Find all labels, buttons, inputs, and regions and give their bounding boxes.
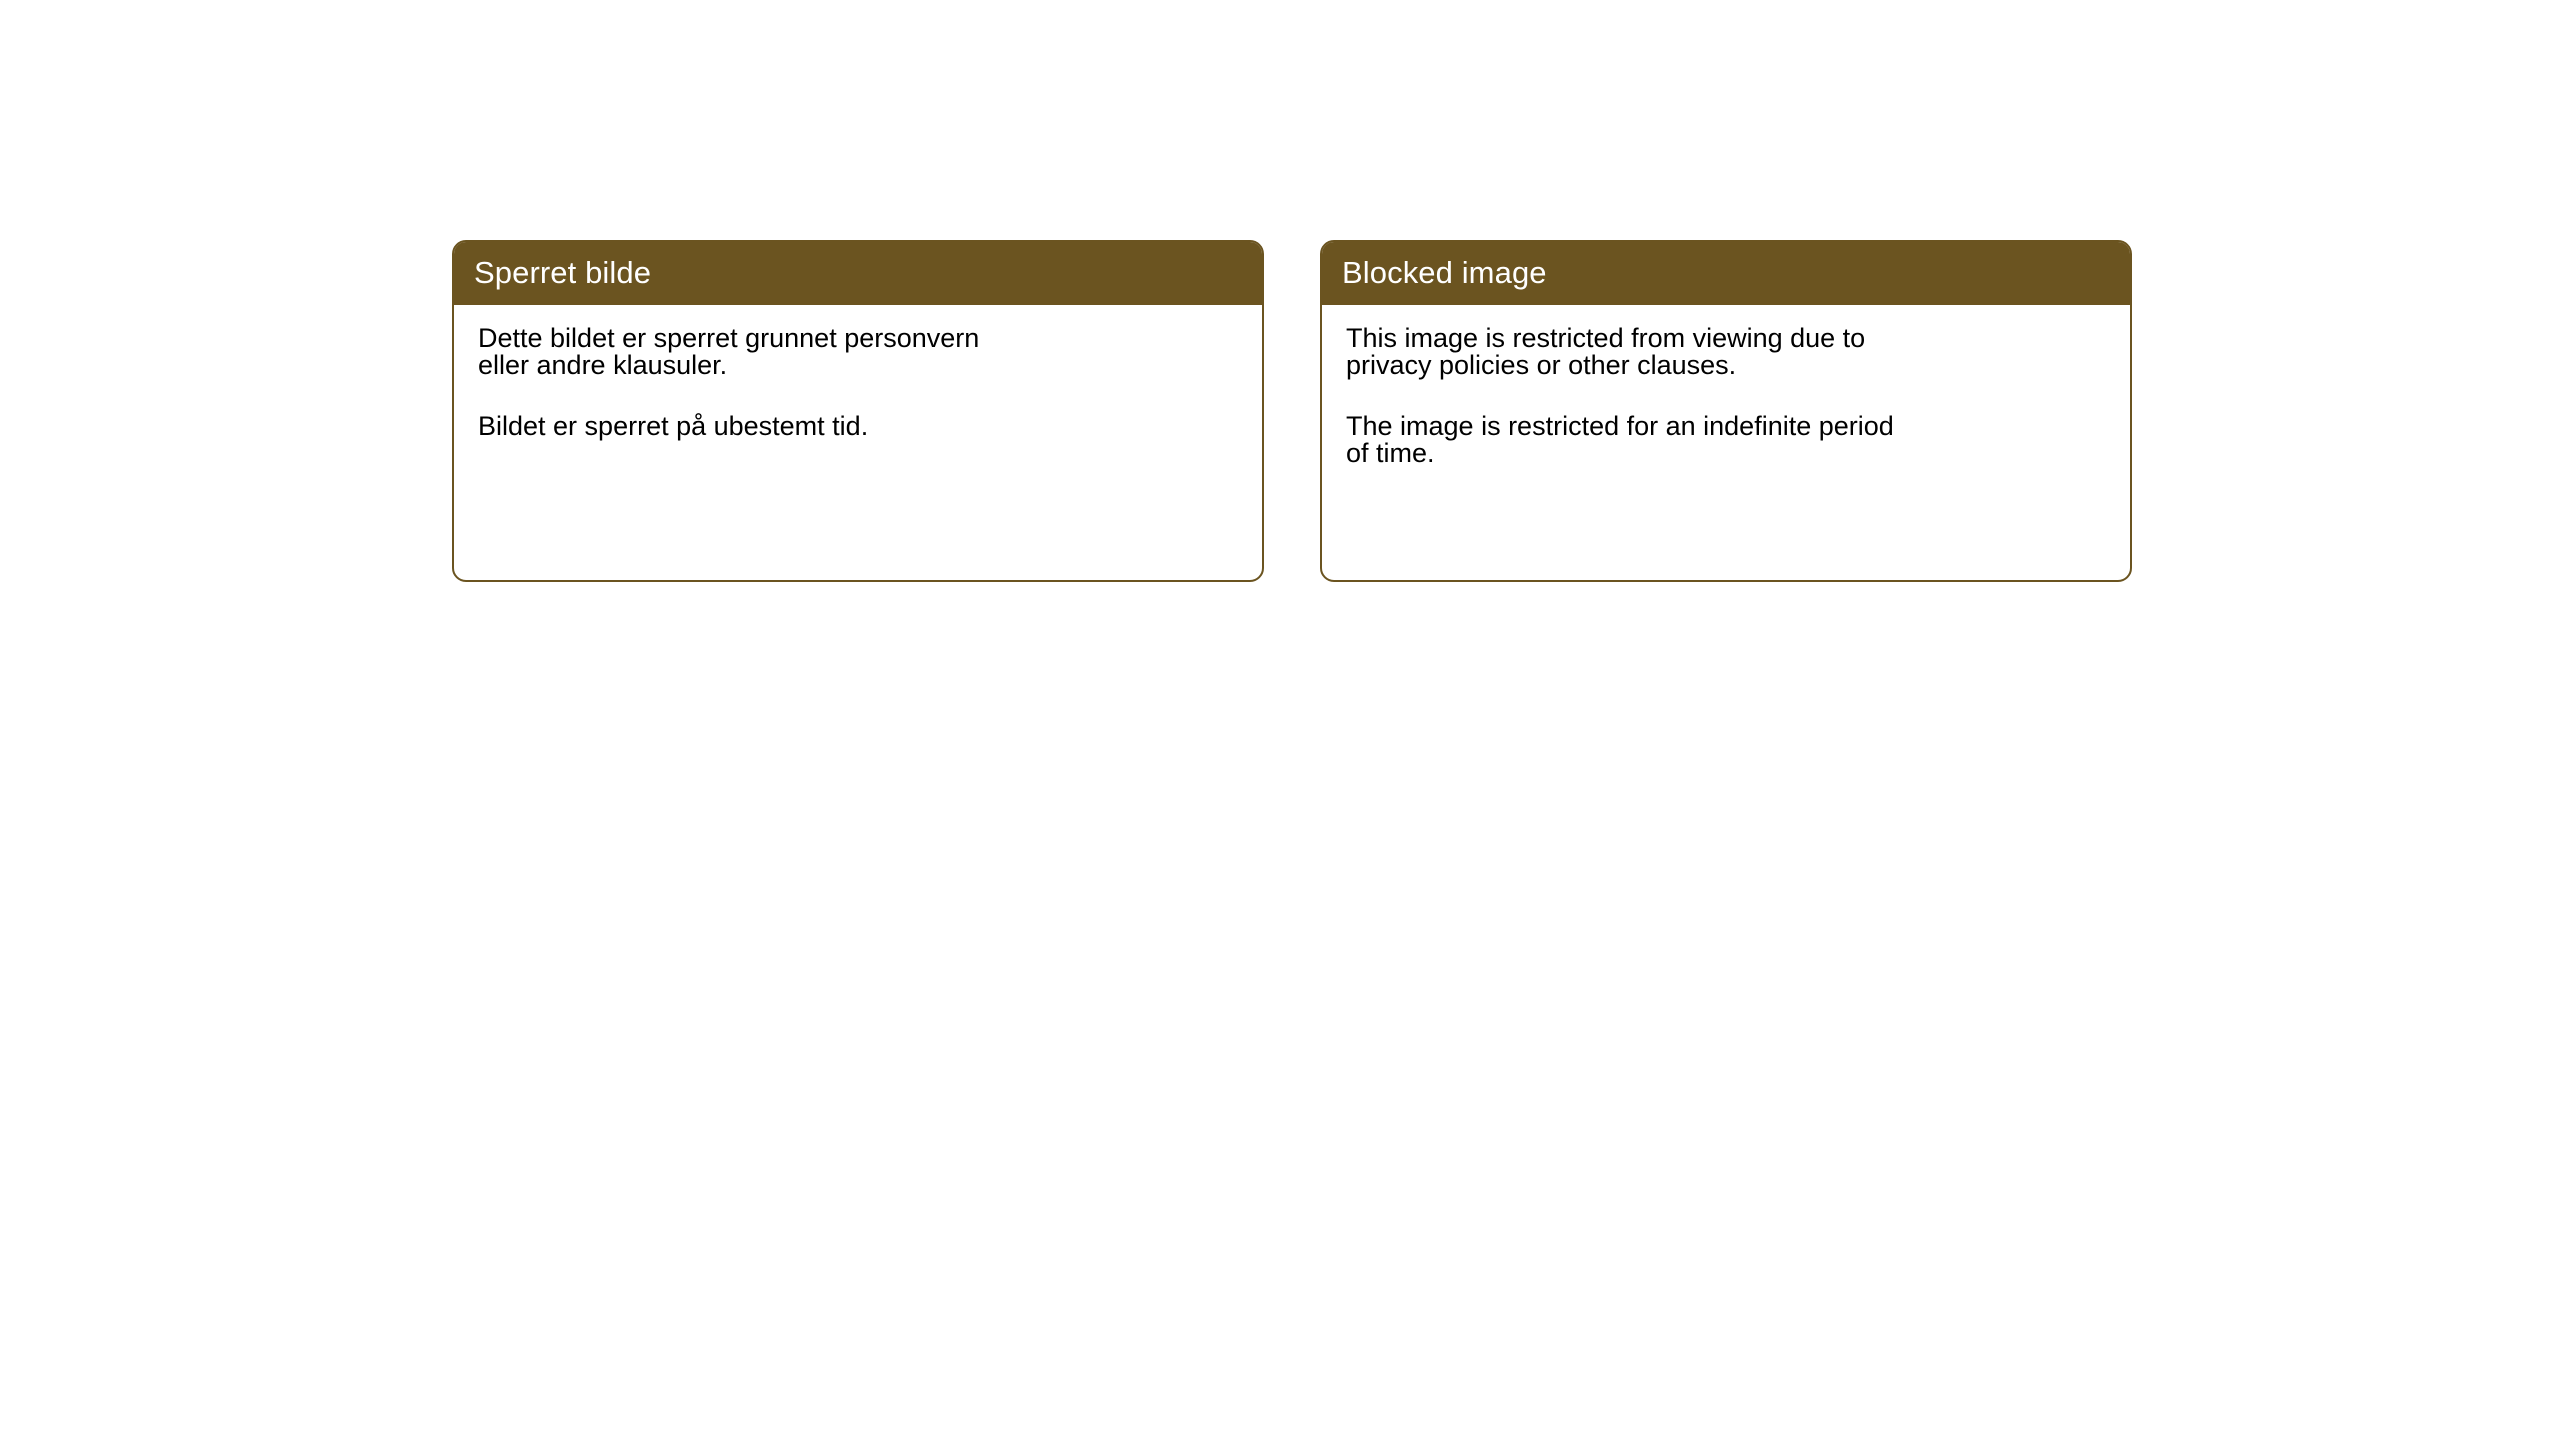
page-root: Sperret bilde Dette bildet er sperret gr…	[0, 0, 2560, 1440]
card-title-english: Blocked image	[1342, 257, 1547, 288]
card-paragraph-restriction-duration-english: The image is restricted for an indefinit…	[1346, 413, 2104, 467]
card-paragraph-restriction-duration-norwegian: Bildet er sperret på ubestemt tid.	[478, 413, 1236, 440]
card-header-english: Blocked image	[1320, 240, 2132, 305]
card-paragraph-restriction-reason-english: This image is restricted from viewing du…	[1346, 325, 2104, 379]
blocked-image-notice-card-norwegian: Sperret bilde Dette bildet er sperret gr…	[452, 240, 1264, 582]
card-title-norwegian: Sperret bilde	[474, 257, 651, 288]
card-header-norwegian: Sperret bilde	[452, 240, 1264, 305]
card-body-english: This image is restricted from viewing du…	[1322, 305, 2130, 467]
card-body-norwegian: Dette bildet er sperret grunnet personve…	[454, 305, 1262, 440]
blocked-image-notice-card-english: Blocked image This image is restricted f…	[1320, 240, 2132, 582]
card-paragraph-restriction-reason-norwegian: Dette bildet er sperret grunnet personve…	[478, 325, 1236, 379]
